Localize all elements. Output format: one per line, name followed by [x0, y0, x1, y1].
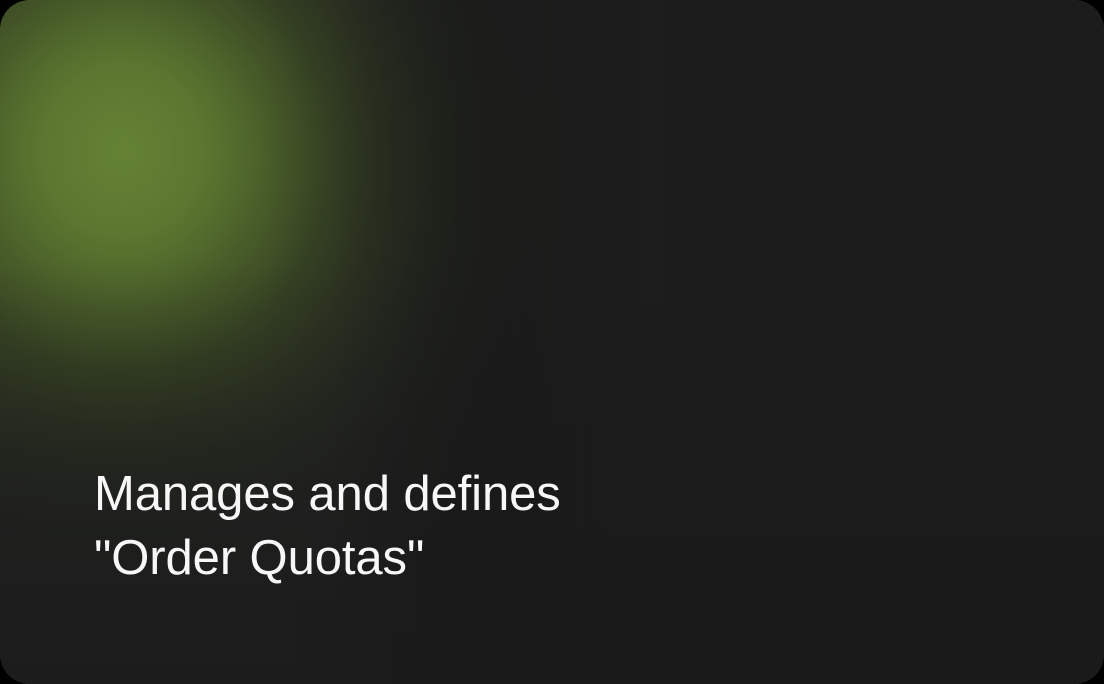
card-caption: Manages and defines "Order Quotas": [94, 462, 994, 590]
caption-line-1: Manages and defines: [94, 462, 994, 526]
feature-card[interactable]: Manages and defines "Order Quotas": [0, 0, 1104, 684]
caption-line-2: "Order Quotas": [94, 526, 994, 590]
